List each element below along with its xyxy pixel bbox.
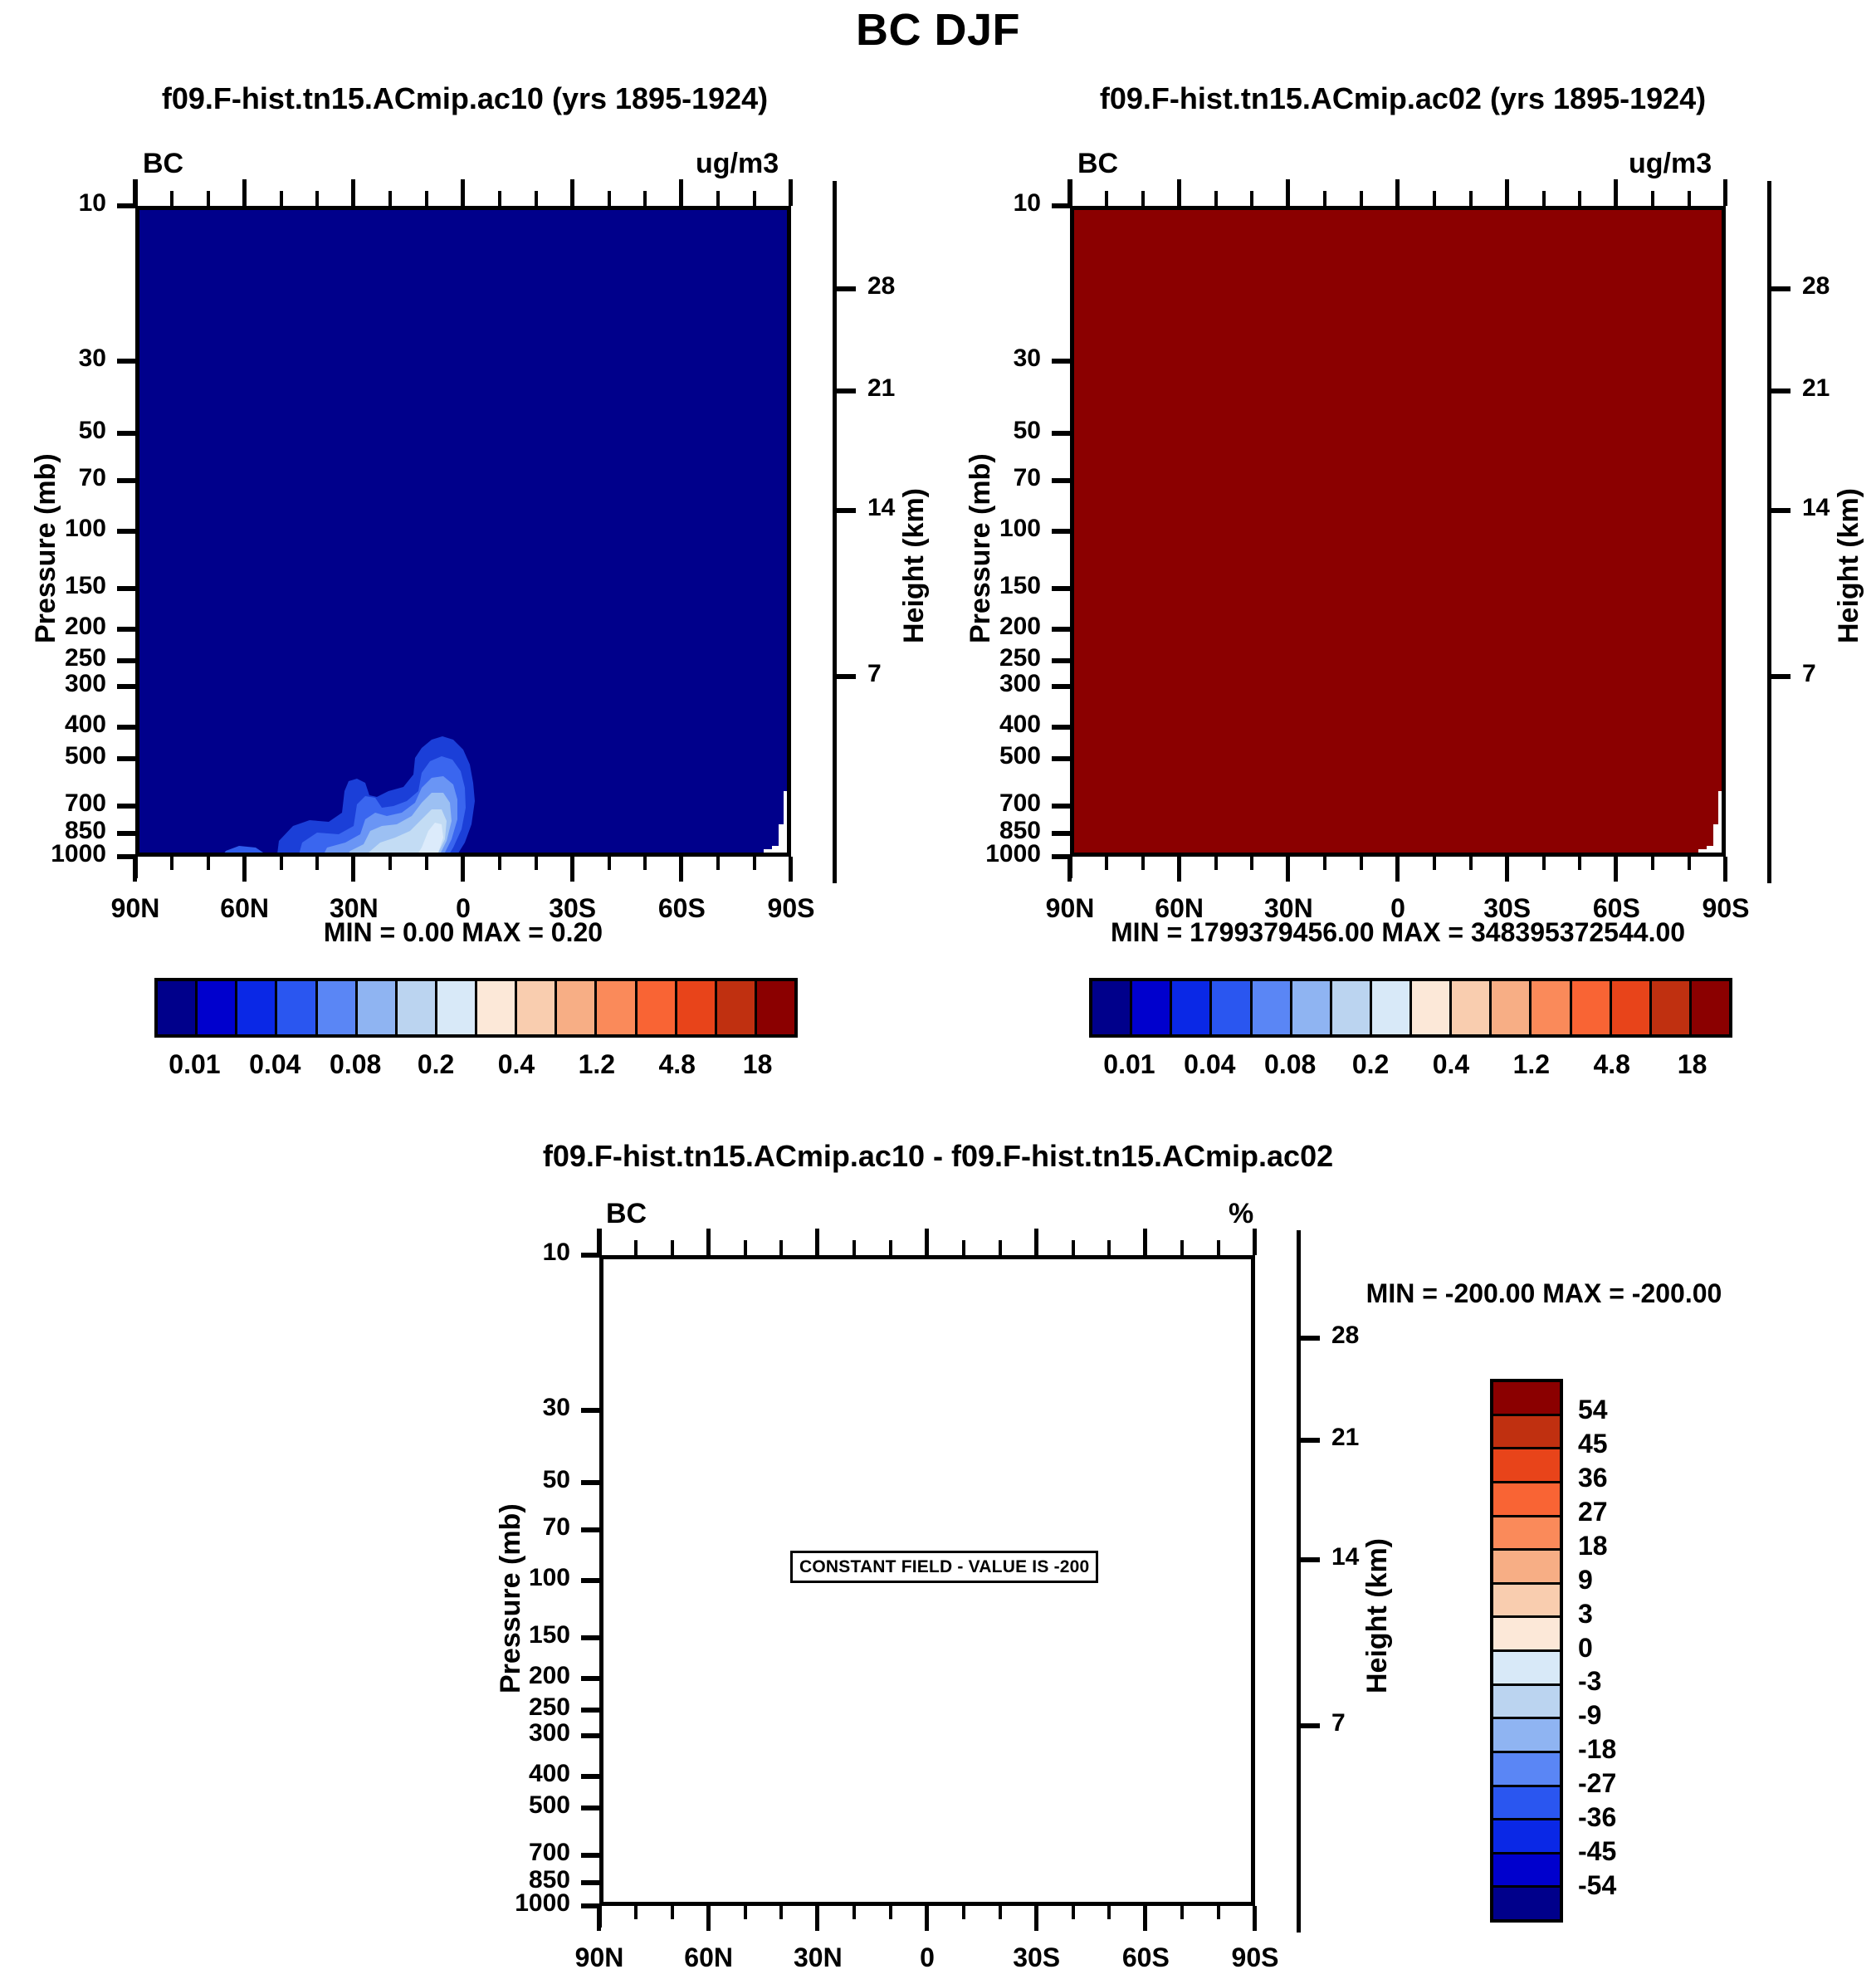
bt-bottom-tick-0 [597, 1906, 601, 1931]
tr-ptick-250 [1052, 658, 1070, 663]
tr-bottom-tick-6 [1286, 857, 1290, 882]
bt-top-tick-16 [1180, 1240, 1184, 1255]
tl-cbar-cell-2 [237, 981, 277, 1034]
bt-bottom-tick-15 [1143, 1906, 1147, 1931]
bt-htick-label-21: 21 [1331, 1424, 1359, 1452]
tl-top-tick-16 [716, 191, 720, 206]
tl-cbar-cell-14 [717, 981, 757, 1034]
pressure-axis-title-bottom: Pressure (mb) [495, 1503, 527, 1693]
tl-cbar-cell-5 [358, 981, 398, 1034]
tr-bottom-tick-7 [1323, 857, 1326, 870]
bt-ptick-400 [581, 1774, 599, 1779]
tr-ptick-label-400: 400 [921, 711, 1041, 739]
tr-top-tick-2 [1141, 191, 1145, 206]
tl-ptick-label-300: 300 [0, 670, 106, 698]
bt-cbar-cell-8 [1493, 1652, 1560, 1686]
tr-top-tick-8 [1360, 191, 1363, 206]
unit-label-bottom: % [1229, 1198, 1253, 1230]
var-label-top-left: BC [143, 148, 183, 180]
tr-cbar-cell-10 [1492, 981, 1532, 1034]
pressure-axis-title-top-left: Pressure (mb) [30, 453, 62, 643]
bt-bottom-tick-10 [962, 1906, 965, 1919]
bt-top-spine-left [598, 1229, 602, 1257]
tl-bottom-tick-7 [388, 857, 392, 870]
height-axis-title-top-right: Height (km) [1833, 488, 1865, 643]
tr-top-tick-6 [1286, 179, 1290, 206]
tr-top-tick-4 [1214, 191, 1218, 206]
bt-cbar-label-neg54: -54 [1578, 1870, 1669, 1901]
bt-ptick-label-50: 50 [450, 1466, 570, 1494]
tl-htick-label-7: 7 [867, 660, 882, 688]
tl-top-tick-5 [315, 191, 319, 206]
tr-cbar-cell-8 [1412, 981, 1452, 1034]
bt-ptick-label-10: 10 [450, 1239, 570, 1267]
bt-bottom-tick-14 [1107, 1906, 1111, 1919]
tr-ptick-label-300: 300 [921, 670, 1041, 698]
tl-htick-21 [834, 388, 856, 393]
tl-htick-7 [834, 674, 856, 679]
minmax-top-left: MIN = 0.00 MAX = 0.20 [135, 917, 791, 948]
tr-top-spine-left [1068, 179, 1072, 208]
tl-ptick-200 [117, 627, 135, 632]
tl-bottom-tick-8 [425, 857, 428, 870]
bt-cbar-label-neg45: -45 [1578, 1836, 1669, 1867]
bt-cbar-label-27: 27 [1578, 1497, 1669, 1527]
bt-ptick-label-30: 30 [450, 1394, 570, 1422]
bt-ptick-150 [581, 1635, 599, 1640]
tr-ptick-200 [1052, 627, 1070, 632]
bt-ptick-label-500: 500 [450, 1791, 570, 1820]
tl-cbar-cell-3 [277, 981, 317, 1034]
bt-top-tick-4 [744, 1240, 747, 1255]
tr-cbar-cell-6 [1332, 981, 1372, 1034]
bt-cbar-cell-14 [1493, 1854, 1560, 1889]
tr-bottom-tick-15 [1614, 857, 1618, 882]
bt-cbar-label-36: 36 [1578, 1463, 1669, 1493]
tr-ptick-30 [1052, 359, 1070, 364]
bt-bottom-tick-5 [779, 1906, 783, 1919]
tl-bottom-tick-14 [643, 857, 647, 870]
tl-htick-28 [834, 286, 856, 291]
bt-cbar-label-neg9: -9 [1578, 1700, 1669, 1731]
bt-htick-7 [1298, 1723, 1320, 1728]
bt-cbar-cell-13 [1493, 1820, 1560, 1854]
bt-cbar-label-neg18: -18 [1578, 1734, 1669, 1765]
bt-bottom-tick-16 [1180, 1906, 1184, 1919]
tl-top-tick-1 [170, 191, 173, 206]
bt-htick-label-7: 7 [1331, 1709, 1346, 1737]
tr-top-tick-7 [1323, 191, 1326, 206]
bt-cbar-cell-6 [1493, 1585, 1560, 1619]
bt-bottom-tick-13 [1072, 1906, 1075, 1919]
tr-bottom-tick-16 [1651, 857, 1654, 870]
panel-title-bottom: f09.F-hist.tn15.ACmip.ac10 - f09.F-hist.… [315, 1139, 1561, 1174]
tr-ptick-label-1000: 1000 [921, 840, 1041, 868]
tl-cbar-cell-6 [398, 981, 437, 1034]
tr-ptick-label-30: 30 [921, 344, 1041, 373]
bt-htick-21 [1298, 1438, 1320, 1443]
tl-ptick-label-50: 50 [0, 417, 106, 445]
pressure-axis-title-top-right: Pressure (mb) [965, 453, 997, 643]
tl-htick-label-14: 14 [867, 494, 895, 522]
tl-ptick-850 [117, 831, 135, 836]
tr-bottom-tick-18 [1723, 857, 1727, 882]
tr-ptick-300 [1052, 684, 1070, 689]
tl-ptick-label-700: 700 [0, 789, 106, 818]
tr-bottom-tick-10 [1433, 857, 1436, 870]
tl-top-tick-17 [753, 191, 756, 206]
tr-bottom-tick-3 [1177, 857, 1181, 882]
tr-ptick-850 [1052, 831, 1070, 836]
plot-area-top-left [135, 206, 791, 857]
bt-top-tick-15 [1143, 1229, 1147, 1255]
bt-htick-label-28: 28 [1331, 1322, 1359, 1350]
tl-top-tick-8 [425, 191, 428, 206]
bt-htick-28 [1298, 1336, 1320, 1341]
var-label-bottom: BC [606, 1198, 647, 1230]
tr-cbar-cell-11 [1532, 981, 1571, 1034]
tl-bottom-tick-17 [753, 857, 756, 870]
bt-bottom-tick-11 [999, 1906, 1002, 1919]
tr-top-tick-17 [1688, 191, 1691, 206]
tr-top-tick-16 [1651, 191, 1654, 206]
tr-htick-14 [1769, 508, 1791, 513]
bt-top-tick-8 [889, 1240, 892, 1255]
tr-top-tick-3 [1177, 179, 1181, 206]
tl-cbar-cell-15 [757, 981, 794, 1034]
unit-label-top-left: ug/m3 [696, 148, 779, 180]
panel-title-top-left: f09.F-hist.tn15.ACmip.ac10 (yrs 1895-192… [33, 81, 896, 116]
tl-htick-14 [834, 508, 856, 513]
bt-cbar-label-neg36: -36 [1578, 1802, 1669, 1833]
unit-label-top-right: ug/m3 [1629, 148, 1712, 180]
tr-htick-28 [1769, 286, 1791, 291]
tl-bottom-tick-11 [535, 857, 538, 870]
bt-ptick-50 [581, 1480, 599, 1485]
tl-bottom-tick-3 [242, 857, 247, 882]
tl-cbar-cell-13 [677, 981, 717, 1034]
tr-top-tick-18 [1723, 179, 1727, 206]
tr-bottom-tick-8 [1360, 857, 1363, 870]
bt-ptick-250 [581, 1708, 599, 1713]
tr-cbar-cell-7 [1372, 981, 1412, 1034]
tl-bottom-tick-5 [315, 857, 319, 870]
tr-cbar-cell-2 [1172, 981, 1212, 1034]
bt-ptick-label-400: 400 [450, 1760, 570, 1788]
tr-cbar-cell-4 [1253, 981, 1292, 1034]
tl-cbar-cell-0 [158, 981, 198, 1034]
tl-top-tick-9 [461, 179, 465, 206]
tl-bottom-tick-18 [789, 857, 793, 882]
tr-right-spine [1767, 181, 1771, 883]
bt-ptick-700 [581, 1853, 599, 1858]
tr-cbar-cell-0 [1092, 981, 1132, 1034]
tl-top-tick-7 [388, 191, 392, 206]
tr-ptick-label-700: 700 [921, 789, 1041, 818]
tl-bottom-tick-16 [716, 857, 720, 870]
tr-cbar-cell-5 [1292, 981, 1332, 1034]
tl-top-tick-12 [570, 179, 574, 206]
tr-cbar-cell-3 [1212, 981, 1252, 1034]
tr-cbar-cell-9 [1452, 981, 1492, 1034]
tl-ptick-500 [117, 756, 135, 761]
tr-top-tick-14 [1578, 191, 1581, 206]
tr-bottom-tick-4 [1214, 857, 1218, 870]
tr-htick-label-14: 14 [1802, 494, 1830, 522]
tr-top-tick-12 [1505, 179, 1509, 206]
tl-top-tick-14 [643, 191, 647, 206]
bt-cbar-label-54: 54 [1578, 1395, 1669, 1425]
tr-bottom-tick-0 [1067, 857, 1072, 882]
bt-bottom-tick-8 [889, 1906, 892, 1919]
tl-ptick-100 [117, 529, 135, 534]
tr-cbar-cell-13 [1612, 981, 1652, 1034]
colorbar-top-left [154, 978, 798, 1038]
bt-cbar-label-18: 18 [1578, 1531, 1669, 1561]
bt-cbar-cell-1 [1493, 1416, 1560, 1450]
bt-cbar-cell-15 [1493, 1888, 1560, 1919]
minmax-top-right: MIN = 1799379456.00 MAX = 348395372544.0… [1028, 917, 1767, 948]
tl-top-tick-10 [498, 191, 501, 206]
tl-top-tick-4 [280, 191, 283, 206]
bt-top-tick-1 [634, 1240, 638, 1255]
tr-cbar-cell-15 [1692, 981, 1729, 1034]
tl-ptick-label-400: 400 [0, 711, 106, 739]
tl-ptick-label-1000: 1000 [0, 840, 106, 868]
tl-cbar-cell-10 [557, 981, 597, 1034]
minmax-bottom: MIN = -200.00 MAX = -200.00 [1295, 1278, 1793, 1309]
bt-top-tick-11 [999, 1240, 1002, 1255]
tl-cbar-cell-7 [437, 981, 477, 1034]
tr-bottom-tick-12 [1505, 857, 1509, 882]
bt-top-tick-12 [1034, 1229, 1038, 1255]
tl-bottom-tick-0 [133, 857, 137, 882]
bt-bottom-tick-18 [1253, 1906, 1257, 1931]
bt-ptick-70 [581, 1527, 599, 1532]
tr-ptick-70 [1052, 478, 1070, 483]
bt-ptick-300 [581, 1733, 599, 1738]
tr-ptick-label-10: 10 [921, 189, 1041, 217]
tr-bottom-tick-9 [1395, 857, 1400, 882]
tl-bottom-tick-4 [280, 857, 283, 870]
bt-top-tick-7 [853, 1240, 856, 1255]
tr-top-tick-1 [1105, 191, 1108, 206]
tl-bottom-tick-9 [461, 857, 465, 882]
tr-bottom-tick-14 [1578, 857, 1581, 870]
tl-cbar-cell-8 [477, 981, 517, 1034]
bt-cbar-cell-11 [1493, 1753, 1560, 1787]
tl-ptick-label-250: 250 [0, 644, 106, 672]
bt-bottom-tick-9 [925, 1906, 929, 1931]
bt-cbar-label-9: 9 [1578, 1565, 1669, 1595]
tr-bottom-tick-11 [1469, 857, 1473, 870]
bt-bottom-tick-4 [744, 1906, 747, 1919]
tr-htick-label-21: 21 [1802, 374, 1830, 403]
tl-top-tick-15 [679, 179, 683, 206]
bt-htick-14 [1298, 1557, 1320, 1562]
bt-bottom-tick-12 [1034, 1906, 1038, 1931]
tr-top-tick-11 [1469, 191, 1473, 206]
tl-cbar-cell-12 [638, 981, 677, 1034]
tr-top-tick-9 [1395, 179, 1400, 206]
tl-cbar-cell-9 [517, 981, 557, 1034]
tr-top-tick-13 [1542, 191, 1546, 206]
tl-top-tick-6 [351, 179, 355, 206]
bt-bottom-tick-6 [815, 1906, 819, 1931]
tr-htick-label-28: 28 [1802, 272, 1830, 301]
bt-bottom-tick-17 [1217, 1906, 1220, 1919]
surface-mask-top-left [139, 210, 791, 857]
tr-cbar-cell-12 [1572, 981, 1612, 1034]
tl-bottom-tick-1 [170, 857, 173, 870]
tl-cbar-label-18: 18 [700, 1049, 816, 1080]
bt-top-tick-9 [925, 1229, 929, 1255]
bt-bottom-tick-3 [706, 1906, 711, 1931]
bt-cbar-cell-5 [1493, 1551, 1560, 1585]
bt-top-tick-10 [962, 1240, 965, 1255]
panel-title-top-right: f09.F-hist.tn15.ACmip.ac02 (yrs 1895-192… [971, 81, 1834, 116]
bt-top-tick-18 [1253, 1229, 1257, 1255]
tl-top-tick-11 [535, 191, 538, 206]
tl-bottom-tick-2 [207, 857, 210, 870]
bt-ptick-30 [581, 1408, 599, 1413]
bt-cbar-label-neg3: -3 [1578, 1666, 1669, 1697]
colorbar-top-right [1089, 978, 1732, 1038]
bt-cbar-cell-10 [1493, 1719, 1560, 1753]
page-title: BC DJF [0, 4, 1876, 56]
tr-ptick-label-50: 50 [921, 417, 1041, 445]
bt-ptick-label-700: 700 [450, 1839, 570, 1867]
plot-area-top-right [1070, 206, 1726, 857]
bt-cbar-cell-3 [1493, 1483, 1560, 1517]
var-label-top-right: BC [1077, 148, 1118, 180]
bt-cbar-label-3: 3 [1578, 1599, 1669, 1630]
tl-top-tick-18 [789, 179, 793, 206]
tr-bottom-tick-1 [1105, 857, 1108, 870]
tr-bottom-tick-5 [1250, 857, 1253, 870]
bt-htick-label-14: 14 [1331, 1543, 1359, 1571]
tl-ptick-label-30: 30 [0, 344, 106, 373]
tr-top-tick-10 [1433, 191, 1436, 206]
bt-ptick-500 [581, 1806, 599, 1810]
tl-cbar-cell-11 [597, 981, 637, 1034]
tr-ptick-500 [1052, 756, 1070, 761]
bt-top-tick-3 [706, 1229, 711, 1255]
colorbar-bottom [1490, 1379, 1563, 1923]
bt-cbar-cell-9 [1493, 1686, 1560, 1720]
tl-cbar-cell-1 [198, 981, 237, 1034]
bt-ptick-label-250: 250 [450, 1693, 570, 1722]
bt-top-tick-14 [1107, 1240, 1111, 1255]
bt-top-tick-17 [1217, 1240, 1220, 1255]
tr-ptick-700 [1052, 804, 1070, 809]
bt-ptick-label-1000: 1000 [450, 1889, 570, 1918]
tl-ptick-250 [117, 658, 135, 663]
tl-htick-label-21: 21 [867, 374, 895, 403]
bt-cbar-cell-4 [1493, 1517, 1560, 1551]
tl-cbar-cell-4 [318, 981, 358, 1034]
tl-bottom-tick-12 [570, 857, 574, 882]
bt-cbar-cell-12 [1493, 1787, 1560, 1821]
bt-ptick-850 [581, 1880, 599, 1885]
tl-ptick-700 [117, 804, 135, 809]
bt-cbar-label-45: 45 [1578, 1429, 1669, 1459]
tl-bottom-tick-10 [498, 857, 501, 870]
tr-ptick-100 [1052, 529, 1070, 534]
tl-ptick-300 [117, 684, 135, 689]
tl-top-tick-2 [207, 191, 210, 206]
bt-ptick-200 [581, 1676, 599, 1681]
tr-ptick-50 [1052, 431, 1070, 436]
tl-ptick-label-10: 10 [0, 189, 106, 217]
bt-bottom-tick-1 [634, 1906, 638, 1919]
bt-top-tick-6 [815, 1229, 819, 1255]
tl-right-spine [833, 181, 837, 883]
tr-ptick-150 [1052, 586, 1070, 591]
tr-cbar-cell-1 [1132, 981, 1172, 1034]
tr-ptick-label-250: 250 [921, 644, 1041, 672]
tl-ptick-30 [117, 359, 135, 364]
bt-top-tick-5 [779, 1240, 783, 1255]
tr-bottom-tick-13 [1542, 857, 1546, 870]
bt-cbar-cell-2 [1493, 1449, 1560, 1483]
tr-ptick-400 [1052, 725, 1070, 730]
bt-cbar-label-neg27: -27 [1578, 1768, 1669, 1799]
height-axis-title-bottom: Height (km) [1361, 1538, 1394, 1693]
tl-ptick-70 [117, 478, 135, 483]
tl-htick-label-28: 28 [867, 272, 895, 301]
tl-ptick-150 [117, 586, 135, 591]
tr-htick-7 [1769, 674, 1791, 679]
bt-cbar-label-0: 0 [1578, 1633, 1669, 1664]
bt-ptick-label-300: 300 [450, 1719, 570, 1747]
bt-bottom-tick-7 [853, 1906, 856, 1919]
tl-top-tick-3 [242, 179, 247, 206]
bt-top-tick-2 [671, 1240, 674, 1255]
tl-top-tick-13 [608, 191, 611, 206]
bt-top-tick-13 [1072, 1240, 1075, 1255]
tl-ptick-label-500: 500 [0, 742, 106, 770]
tr-bottom-tick-17 [1688, 857, 1691, 870]
tr-htick-label-7: 7 [1802, 660, 1816, 688]
tl-ptick-50 [117, 431, 135, 436]
tr-ptick-label-500: 500 [921, 742, 1041, 770]
bt-cbar-cell-0 [1493, 1382, 1560, 1416]
tr-top-tick-15 [1614, 179, 1618, 206]
bt-right-spine [1297, 1230, 1301, 1933]
tl-bottom-tick-15 [679, 857, 683, 882]
tr-top-tick-5 [1250, 191, 1253, 206]
tl-bottom-tick-6 [351, 857, 355, 882]
constant-field-annotation: CONSTANT FIELD - VALUE IS -200 [790, 1551, 1098, 1583]
bt-bottom-tick-2 [671, 1906, 674, 1919]
bt-cbar-cell-7 [1493, 1618, 1560, 1652]
tr-bottom-tick-2 [1141, 857, 1145, 870]
tl-bottom-tick-13 [608, 857, 611, 870]
surface-mask-top-right [1074, 210, 1726, 857]
tr-cbar-cell-14 [1652, 981, 1692, 1034]
tl-ptick-400 [117, 725, 135, 730]
tr-cbar-label-18: 18 [1634, 1049, 1751, 1080]
tl-top-spine-left [134, 179, 138, 208]
bt-ptick-100 [581, 1578, 599, 1583]
tr-htick-21 [1769, 388, 1791, 393]
bt-lat-label-90S: 90S [1189, 1942, 1322, 1973]
